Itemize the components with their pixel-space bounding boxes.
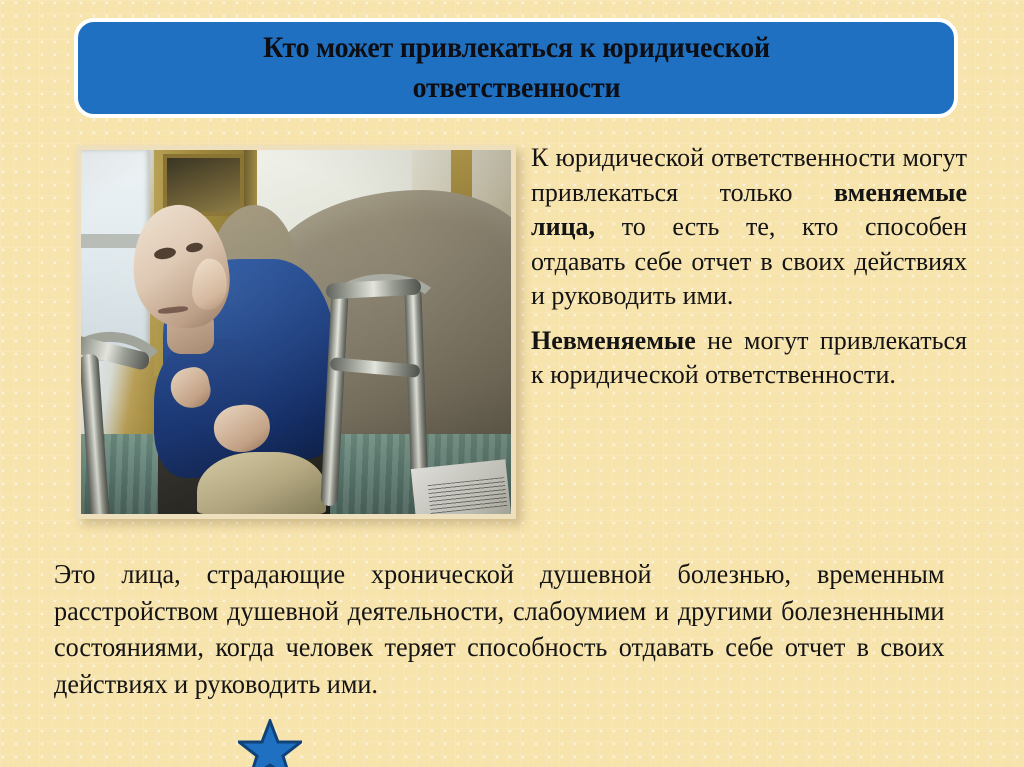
page-title: Кто может привлекаться к юридической отв… [263,28,770,107]
body-paragraph-1: К юридической ответственности могут прив… [531,141,967,314]
body-paragraph-2-bold-1: Невменяемые [531,326,696,355]
body-text-column: К юридической ответственности могут прив… [531,141,967,393]
body-paragraph-1-part-2: то есть те, кто способен отдавать себе о… [531,212,967,310]
bottom-paragraph: Это лица, страдающие хронической душевно… [54,556,944,703]
star-icon [238,719,302,767]
title-banner: Кто может привлекаться к юридической отв… [74,18,958,118]
slide-canvas: Кто может привлекаться к юридической отв… [0,0,1024,767]
body-paragraph-2: Невменяемые не могут привлекаться к юрид… [531,324,967,393]
photo-frame [76,145,516,519]
photo-elderly-man-with-walker [81,150,511,514]
photo-vignette [81,150,511,514]
bottom-text-block: Это лица, страдающие хронической душевно… [54,556,944,703]
